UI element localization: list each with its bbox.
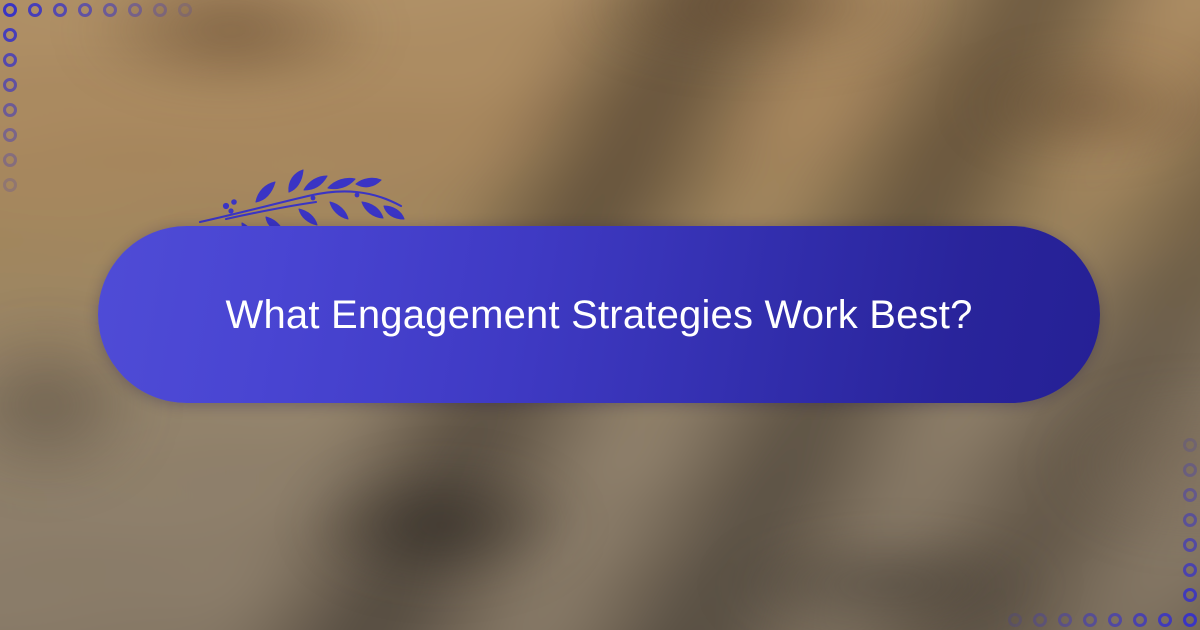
dot-grid-bottom-right-decoration	[997, 427, 1197, 627]
decorative-dot	[3, 3, 17, 17]
decorative-dot	[3, 28, 17, 42]
decorative-dot	[1133, 613, 1147, 627]
decorative-dot	[3, 178, 17, 192]
decorative-dot	[1183, 538, 1197, 552]
decorative-dot	[1083, 613, 1097, 627]
decorative-dot	[1183, 563, 1197, 577]
decorative-dot	[1183, 613, 1197, 627]
decorative-dot	[3, 153, 17, 167]
decorative-dot	[1183, 463, 1197, 477]
decorative-dot	[78, 3, 92, 17]
decorative-dot	[3, 53, 17, 67]
decorative-dot	[53, 3, 67, 17]
decorative-dot	[1033, 613, 1047, 627]
decorative-dot	[1058, 613, 1072, 627]
decorative-dot	[1158, 613, 1172, 627]
decorative-dot	[1183, 438, 1197, 452]
decorative-dot	[1183, 488, 1197, 502]
dot-grid-top-left-decoration	[3, 3, 203, 203]
decorative-dot	[1183, 588, 1197, 602]
decorative-dot	[1183, 513, 1197, 527]
decorative-dot	[28, 3, 42, 17]
decorative-dot	[3, 78, 17, 92]
decorative-dot	[3, 128, 17, 142]
decorative-dot	[3, 103, 17, 117]
page-title: What Engagement Strategies Work Best?	[225, 295, 972, 335]
decorative-dot	[153, 3, 167, 17]
decorative-dot	[1008, 613, 1022, 627]
decorative-dot	[1108, 613, 1122, 627]
title-pill-banner: What Engagement Strategies Work Best?	[98, 226, 1100, 403]
social-card: What Engagement Strategies Work Best?	[0, 0, 1200, 630]
decorative-dot	[128, 3, 142, 17]
decorative-dot	[103, 3, 117, 17]
decorative-dot	[178, 3, 192, 17]
